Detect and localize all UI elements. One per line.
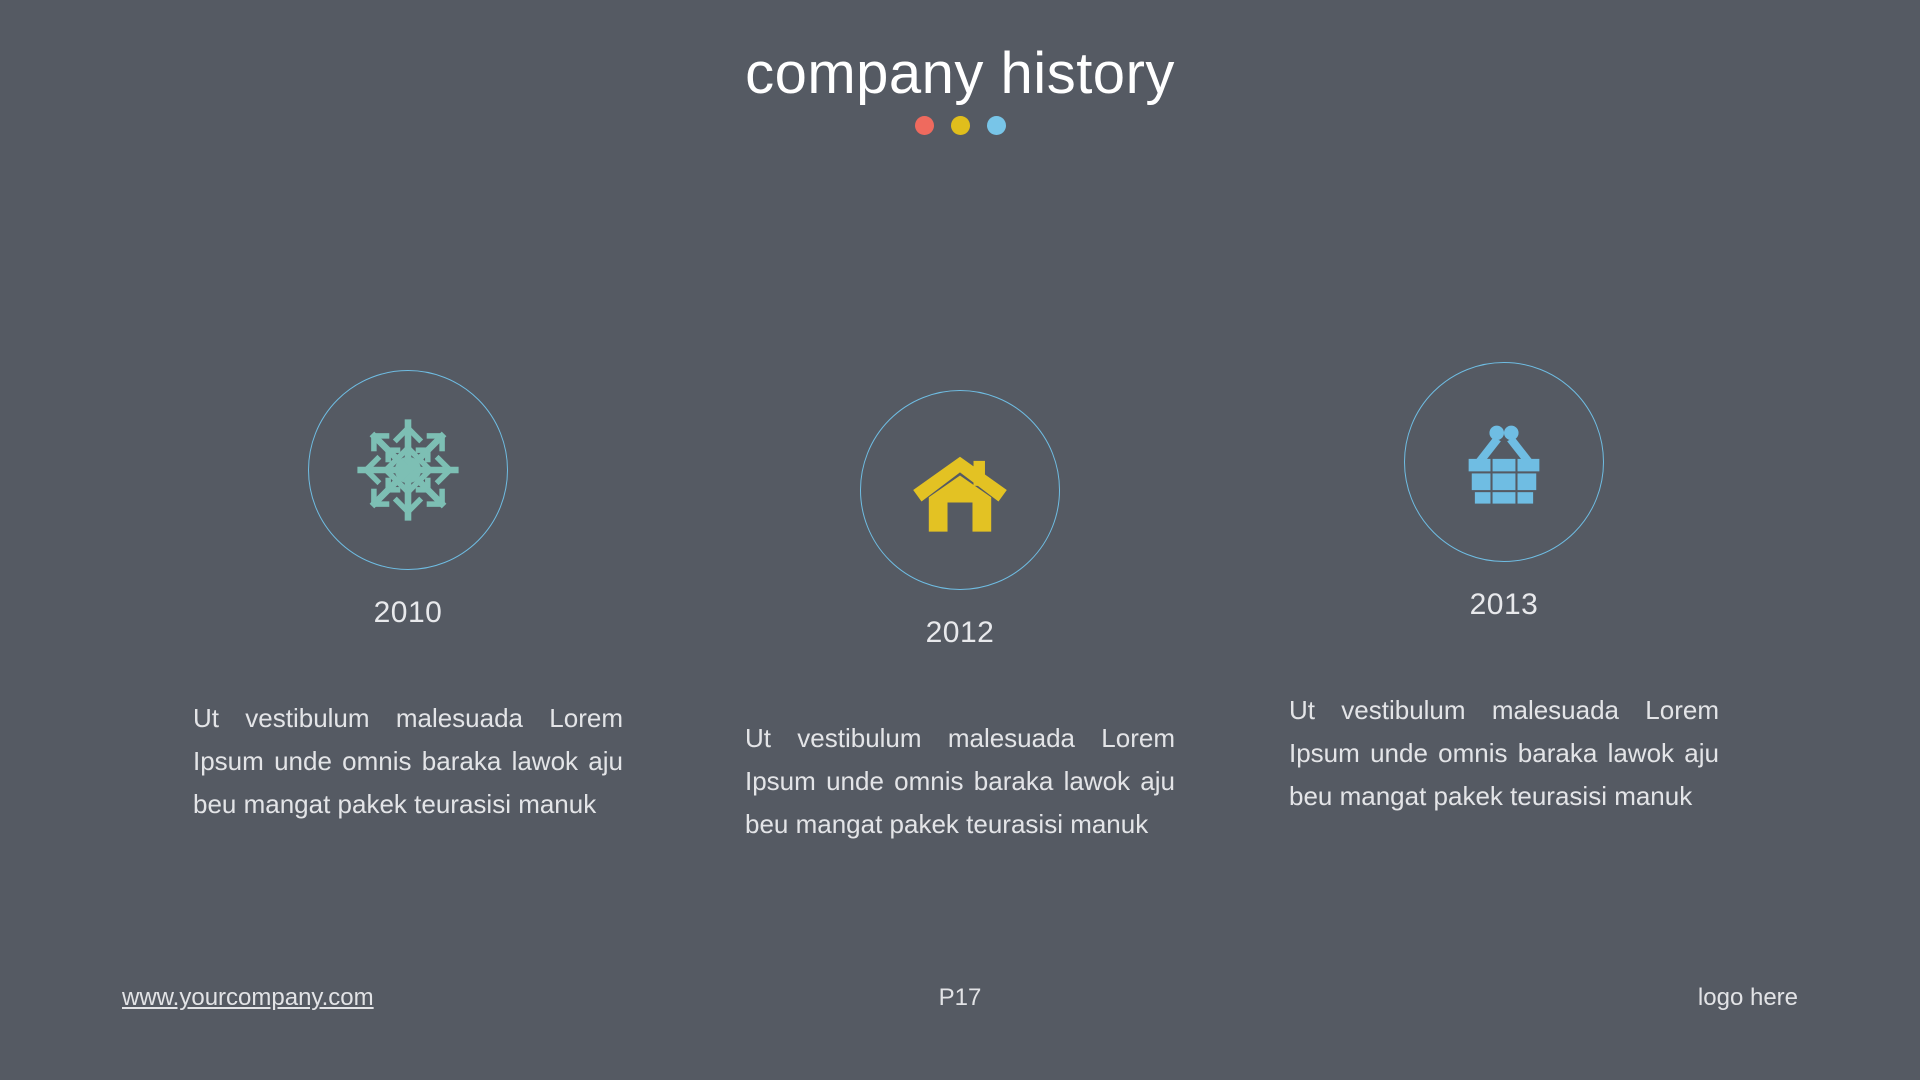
timeline-item-2013: 2013 Ut vestibulum malesuada Lorem Ipsum… xyxy=(1264,362,1744,818)
snowflake-icon xyxy=(353,415,463,525)
page-number: P17 xyxy=(0,984,1920,1013)
shopping-basket-icon xyxy=(1452,410,1556,514)
dot-blue-icon xyxy=(987,116,1006,135)
dot-yellow-icon xyxy=(951,116,970,135)
icon-circle-2010[interactable] xyxy=(308,370,508,570)
slide-header: company history xyxy=(0,0,1920,135)
dot-red-icon xyxy=(915,116,934,135)
timeline-body-text: Ut vestibulum malesuada Lorem Ipsum unde… xyxy=(1289,689,1719,818)
icon-circle-2012[interactable] xyxy=(860,390,1060,590)
logo-placeholder: logo here xyxy=(1698,984,1798,1013)
house-icon xyxy=(908,438,1012,542)
timeline-body-text: Ut vestibulum malesuada Lorem Ipsum unde… xyxy=(193,697,623,826)
timeline-item-2010: 2010 Ut vestibulum malesuada Lorem Ipsum… xyxy=(168,370,648,826)
timeline-item-2012: 2012 Ut vestibulum malesuada Lorem Ipsum… xyxy=(720,390,1200,846)
timeline-year-label: 2010 xyxy=(168,596,648,629)
timeline-body-text: Ut vestibulum malesuada Lorem Ipsum unde… xyxy=(745,717,1175,846)
timeline-year-label: 2013 xyxy=(1264,588,1744,621)
timeline-columns: 2010 Ut vestibulum malesuada Lorem Ipsum… xyxy=(0,370,1920,970)
icon-circle-2013[interactable] xyxy=(1404,362,1604,562)
timeline-year-label: 2012 xyxy=(720,616,1200,649)
slide-footer: www.yourcompany.com P17 logo here xyxy=(0,970,1920,1080)
dot-indicator-row xyxy=(0,116,1920,135)
page-title: company history xyxy=(0,0,1920,106)
